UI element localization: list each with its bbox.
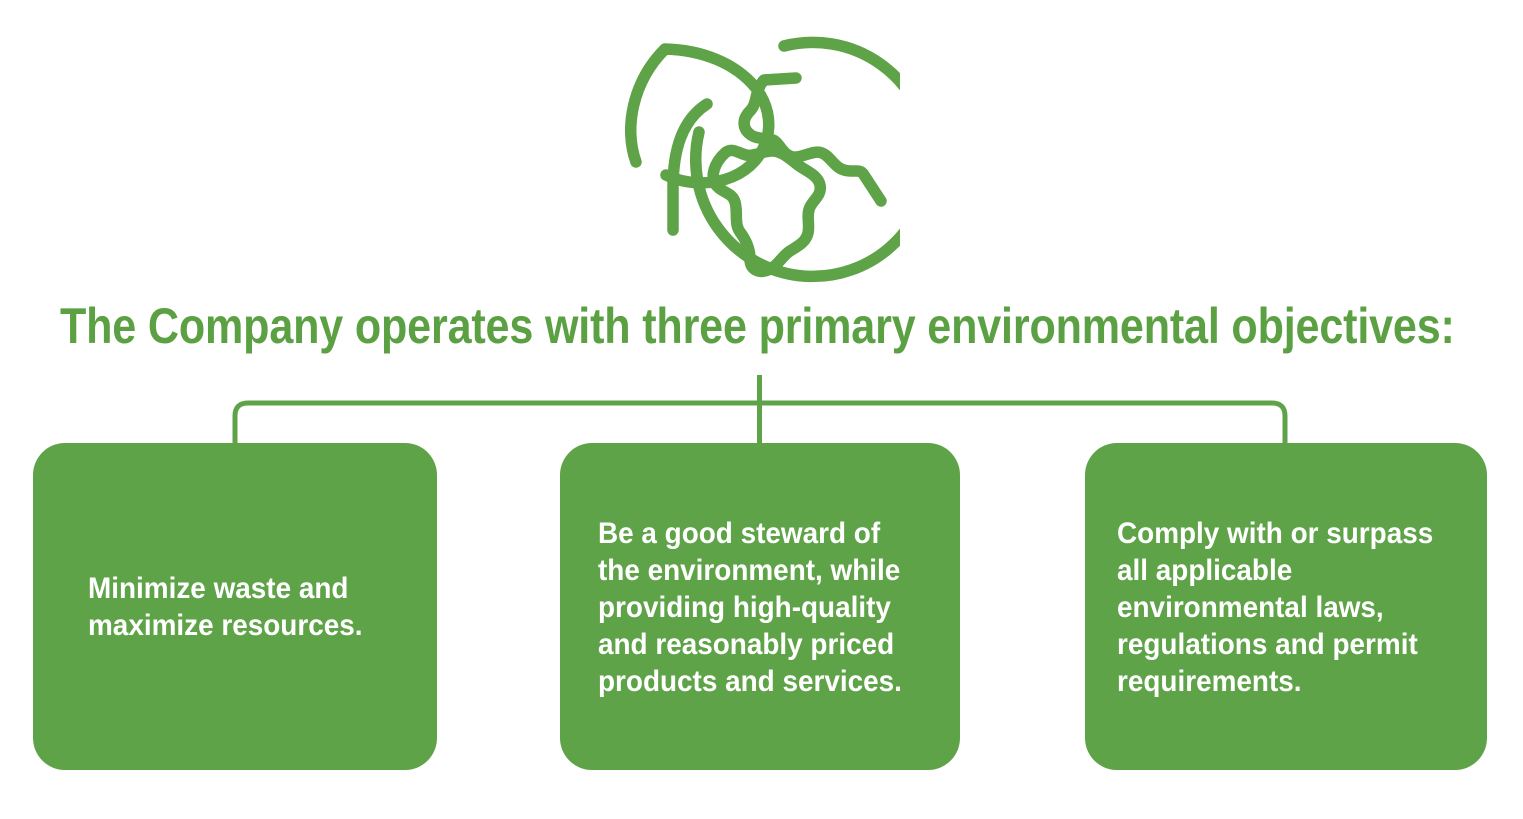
page-title: The Company operates with three primary … — [60, 300, 1284, 356]
globe-leaf-icon-svg — [610, 25, 900, 287]
southern-landmass — [713, 150, 820, 271]
objective-card-text: Comply with or surpass all applicable en… — [1117, 515, 1437, 700]
objective-card-minimize-waste[interactable]: Minimize waste and maximize resources. — [33, 443, 437, 770]
objective-card-comply-surpass[interactable]: Comply with or surpass all applicable en… — [1085, 443, 1487, 770]
objective-card-text: Be a good steward of the environment, wh… — [598, 515, 910, 700]
infographic-canvas: The Company operates with three primary … — [0, 0, 1523, 819]
objective-card-good-steward[interactable]: Be a good steward of the environment, wh… — [560, 443, 960, 770]
globe-leaf-icon — [610, 25, 900, 287]
objective-card-text: Minimize waste and maximize resources. — [88, 570, 375, 644]
